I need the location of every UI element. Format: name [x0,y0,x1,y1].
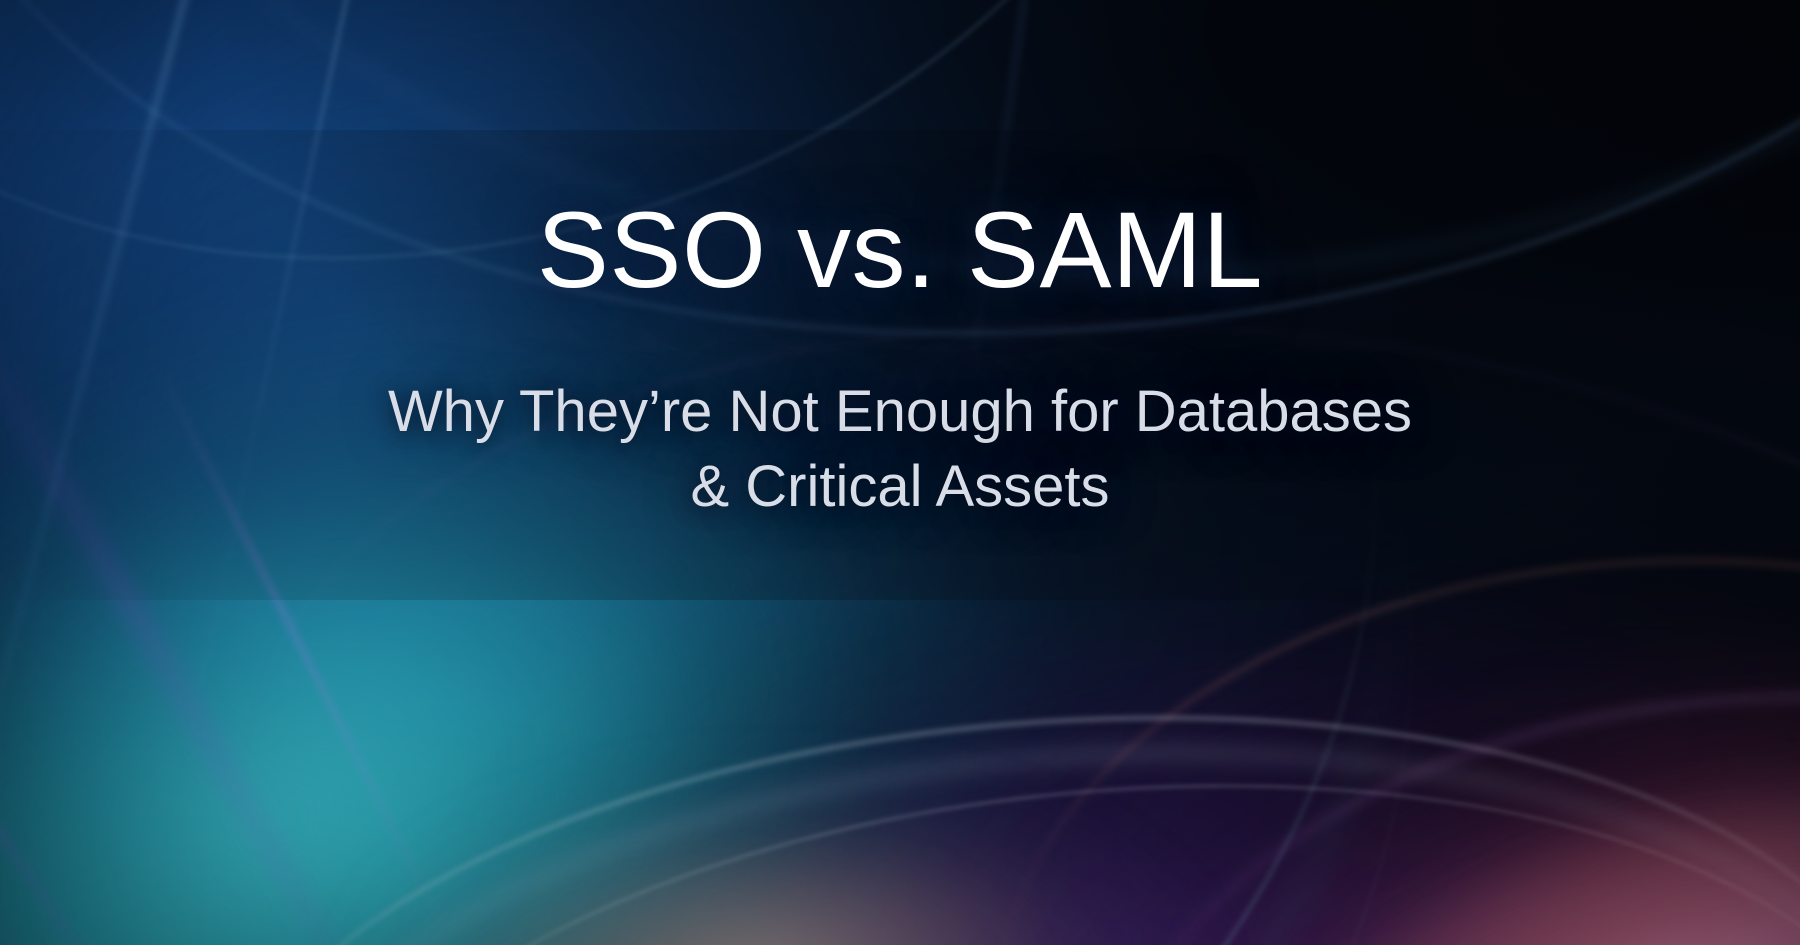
title-slide: SSO vs. SAML Why They’re Not Enough for … [0,0,1800,945]
slide-subtitle-line-2: & Critical Assets [388,449,1412,524]
slide-subtitle-line-1: Why They’re Not Enough for Databases [388,374,1412,449]
slide-subtitle: Why They’re Not Enough for Databases & C… [388,374,1412,525]
slide-title: SSO vs. SAML [537,196,1263,304]
slide-content: SSO vs. SAML Why They’re Not Enough for … [0,0,1800,945]
